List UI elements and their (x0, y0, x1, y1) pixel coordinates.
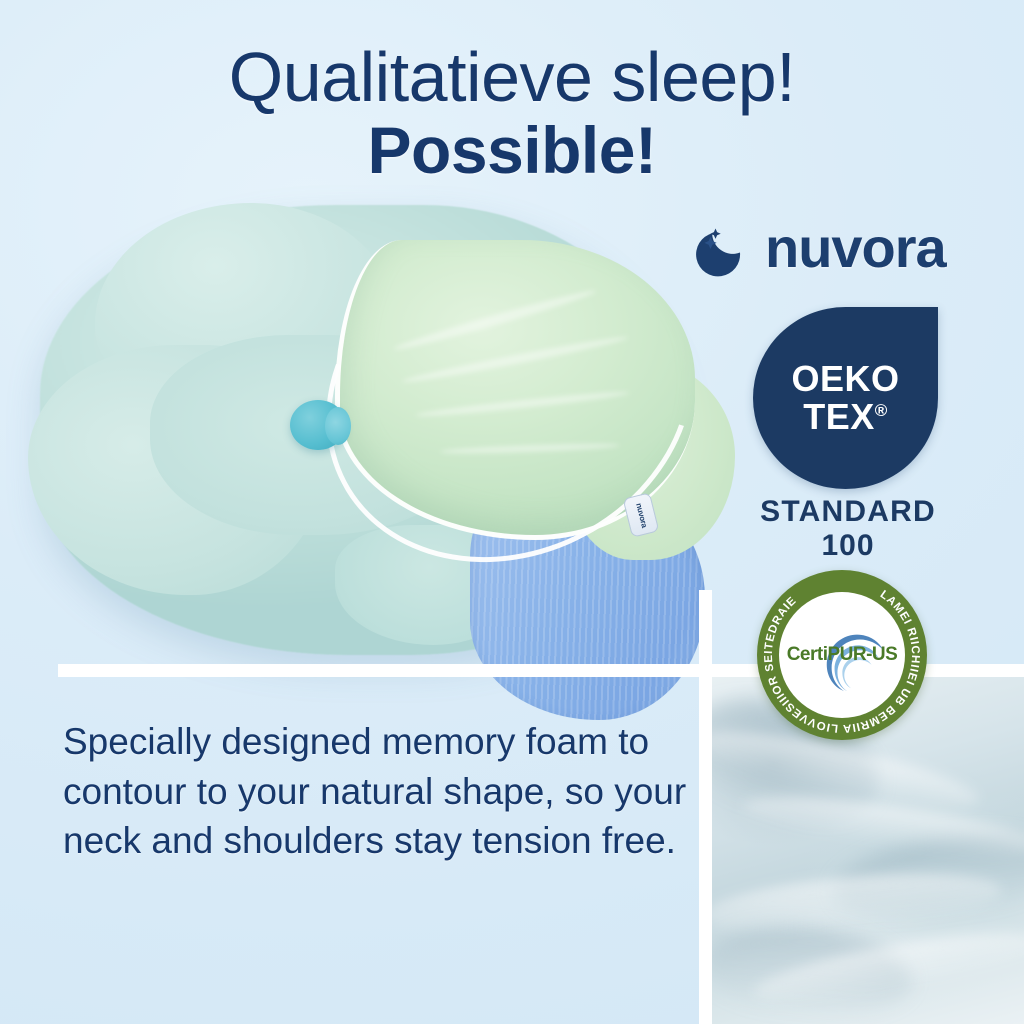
product-image-pillow: nuvora (20, 195, 720, 665)
registered-mark-icon: ® (875, 401, 888, 420)
headline-line-1: Qualitatieve sleep! (0, 42, 1024, 113)
brand-logo: nuvora (695, 212, 995, 284)
crescent-moon-icon (695, 219, 753, 277)
page-title: Qualitatieve sleep! Possible! (0, 42, 1024, 185)
svg-text:LAMEI RIICHIIEI UB BEMRIIA LIO: LAMEI RIICHIIEI UB BEMRIIA LIOVVESIIIOR … (763, 589, 921, 735)
brand-name: nuvora (765, 220, 946, 276)
pillow-valve-button-side (325, 407, 351, 445)
oeko-tex-line-2: TEX® (803, 398, 888, 436)
oeko-standard-word: STANDARD (723, 495, 973, 528)
pillow-tag-label: nuvora (634, 502, 649, 528)
oeko-standard-number: 100 (723, 528, 973, 564)
texture-highlight (712, 864, 1004, 942)
certipur-us-badge: LAMEI RIICHIIEI UB BEMRIIA LIOVVESIIIOR … (757, 570, 927, 740)
body-copy-text: Specially designed memory foam to contou… (63, 717, 723, 866)
oeko-tex-line-1: OEKO (791, 360, 899, 398)
infographic-canvas: Qualitatieve sleep! Possible! nuvora (0, 0, 1024, 1024)
headline-line-2: Possible! (0, 117, 1024, 184)
oeko-tex-badge: OEKO TEX® (753, 307, 938, 489)
oeko-tex-standard-caption: STANDARD 100 (723, 495, 973, 564)
